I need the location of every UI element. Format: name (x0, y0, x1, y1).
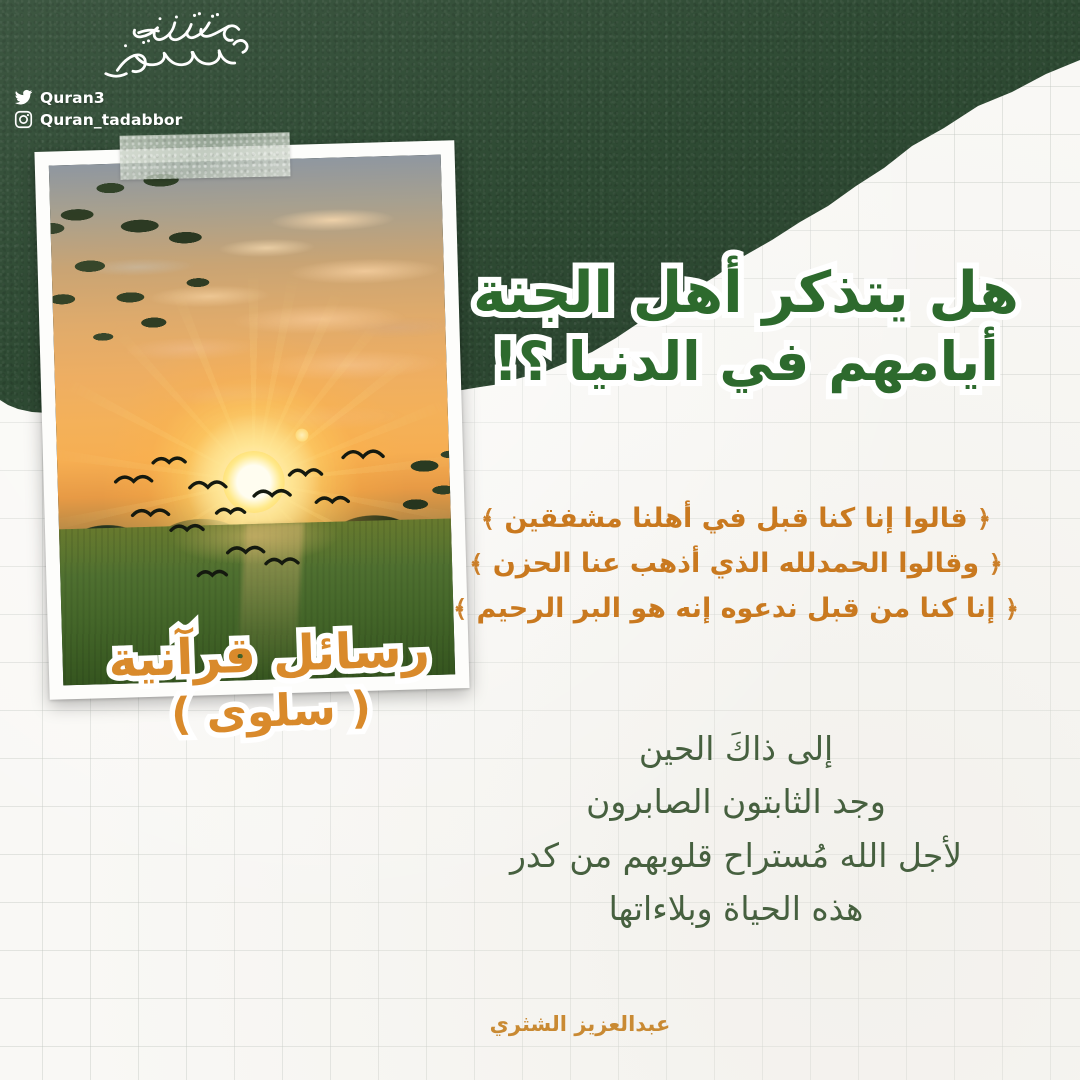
body-line-1: إلى ذاكَ الحين (426, 722, 1046, 775)
verse-close-bracket-icon: ﴾ (469, 550, 483, 578)
arabic-calligraphy-logo (89, 8, 254, 86)
verse-text-2: وقالوا الحمدلله الذي أذهب عنا الحزن (493, 548, 979, 579)
social-handles: Quran3 Quran_tadabbor (14, 88, 254, 129)
series-title-line-1: رسائل قرآنية (58, 621, 480, 690)
verse-close-bracket-icon: ﴾ (481, 505, 495, 533)
quran-verse-2: ﴿ وقالوا الحمدلله الذي أذهب عنا الحزن ﴾ (426, 543, 1046, 584)
author-signature: عبدالعزيز الشثري (380, 1012, 780, 1036)
reflection-body-block: إلى ذاكَ الحين وجد الثابتون الصابرون لأج… (426, 722, 1046, 936)
verse-open-bracket-icon: ﴿ (1005, 595, 1019, 623)
body-line-2: وجد الثابتون الصابرون (426, 775, 1046, 828)
polaroid-photo-frame (34, 140, 469, 700)
twitter-handle-text: Quran3 (40, 89, 105, 107)
verse-close-bracket-icon: ﴾ (453, 595, 467, 623)
headline-line-2: أيامهم في الدنيا ؟! (446, 329, 1046, 396)
instagram-icon (14, 110, 33, 129)
verse-text-1: قالوا إنا كنا قبل في أهلنا مشفقين (504, 503, 967, 534)
body-line-3: لأجل الله مُستراح قلوبهم من كدر (426, 829, 1046, 882)
poster-canvas: Quran3 Quran_tadabbor (0, 0, 1080, 1080)
headline-block: هل يتذكر أهل الجنة أيامهم في الدنيا ؟! (446, 258, 1046, 396)
series-title-caption: رسائل قرآنية ( سلوى ) (58, 621, 482, 744)
headline-line-1: هل يتذكر أهل الجنة (446, 258, 1046, 329)
flying-birds-layer (49, 155, 455, 686)
quran-verse-1: ﴿ قالوا إنا كنا قبل في أهلنا مشفقين ﴾ (426, 498, 1046, 539)
twitter-icon (14, 88, 33, 107)
verse-open-bracket-icon: ﴿ (977, 505, 991, 533)
washi-tape (120, 132, 291, 180)
sunset-photograph (49, 155, 455, 686)
verse-text-3: إنا كنا من قبل ندعوه إنه هو البر الرحيم (477, 593, 996, 624)
brand-logo-block: Quran3 Quran_tadabbor (14, 8, 254, 129)
quran-verse-3: ﴿ إنا كنا من قبل ندعوه إنه هو البر الرحي… (426, 588, 1046, 629)
social-handle-instagram[interactable]: Quran_tadabbor (14, 110, 254, 129)
body-line-4: هذه الحياة وبلاءاتها (426, 882, 1046, 935)
quran-verses-block: ﴿ قالوا إنا كنا قبل في أهلنا مشفقين ﴾ ﴿ … (426, 498, 1046, 633)
verse-open-bracket-icon: ﴿ (989, 550, 1003, 578)
instagram-handle-text: Quran_tadabbor (40, 111, 182, 129)
social-handle-twitter[interactable]: Quran3 (14, 88, 254, 107)
